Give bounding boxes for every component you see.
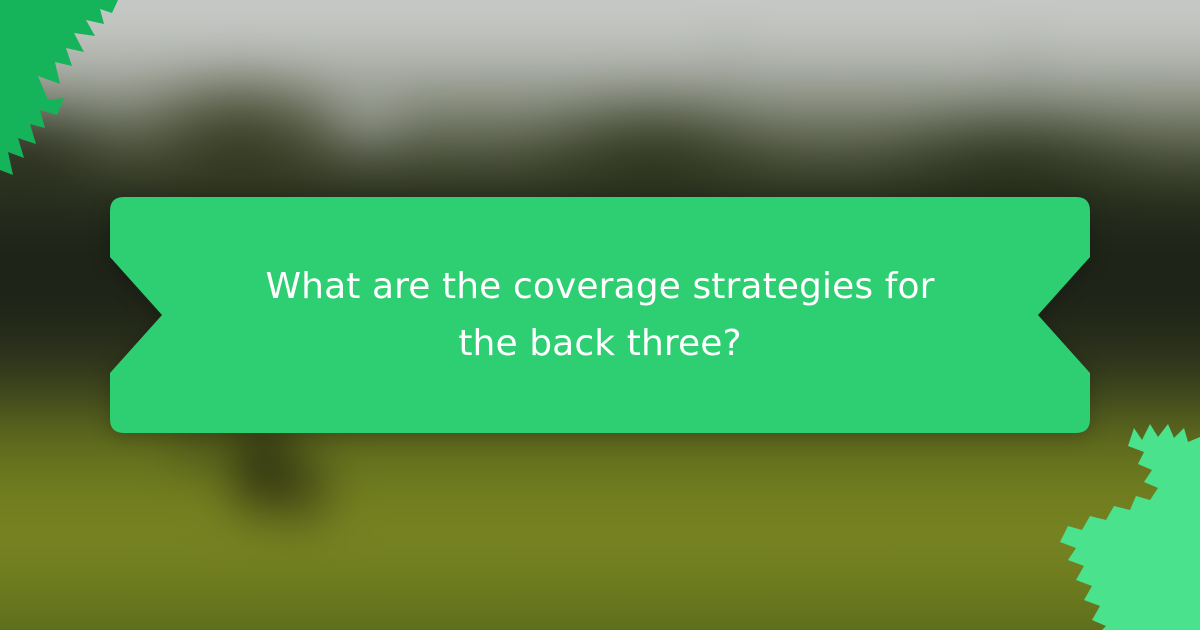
- question-text: What are the coverage strategies for the…: [260, 258, 940, 372]
- question-text-wrapper: What are the coverage strategies for the…: [110, 197, 1090, 433]
- share-card: What are the coverage strategies for the…: [0, 0, 1200, 630]
